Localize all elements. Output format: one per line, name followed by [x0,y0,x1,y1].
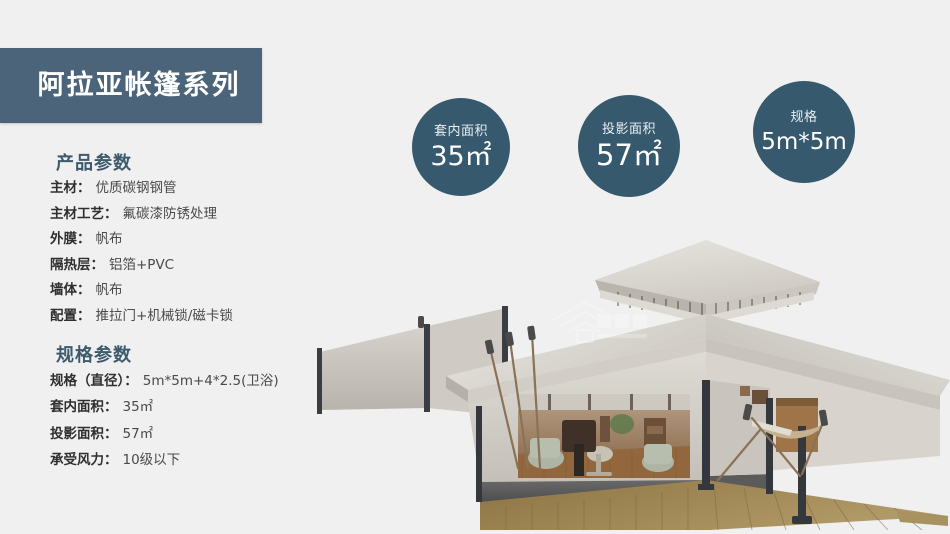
param-value: 氟碳漆防锈处理 [123,208,218,222]
param-label: 墙体： [50,284,91,298]
param-value: 57㎡ [123,428,154,442]
param-label: 规格（直径）： [50,375,138,389]
stat-label: 规格 [790,111,817,124]
stat-circle-indoor-area: 套内面积 35㎡ [412,98,510,196]
param-value: 优质碳钢钢管 [96,182,177,196]
stat-label: 套内面积 [434,125,488,138]
tent-svg [300,230,950,530]
param-value: 5m*5m+4*2.5(卫浴) [143,375,279,389]
stat-value: 57㎡ [596,141,662,170]
anchor-detail [418,316,424,328]
stat-label: 投影面积 [602,123,656,136]
page-title: 阿拉亚帐篷系列 [38,72,241,99]
param-label: 外膜： [50,233,91,247]
param-value: 帆布 [96,284,123,298]
param-row-main-material: 主材： 优质碳钢钢管 [50,182,350,196]
param-label: 主材工艺： [50,208,118,222]
stat-value: 5m*5m [761,131,847,154]
stat-circle-projected-area: 投影面积 57㎡ [578,95,680,197]
param-label: 主材： [50,182,91,196]
upper-roof [595,240,820,324]
param-label: 配置： [50,310,91,324]
stat-value: 35㎡ [430,143,491,170]
param-value: 10级以下 [123,454,181,468]
param-row-material-process: 主材工艺： 氟碳漆防锈处理 [50,208,350,222]
param-label: 套内面积： [50,401,118,415]
param-value: 推拉门+机械锁/磁卡锁 [96,310,233,324]
title-banner: 阿拉亚帐篷系列 [0,48,262,123]
param-label: 承受风力： [50,454,118,468]
param-label: 投影面积： [50,428,118,442]
tent-render-image [300,230,950,530]
product-parameters-heading: 产品参数 [56,152,350,175]
param-value: 35㎡ [123,401,154,415]
param-label: 隔热层： [50,259,104,273]
page-root: 阿拉亚帐篷系列 产品参数 主材： 优质碳钢钢管 主材工艺： 氟碳漆防锈处理 外膜… [0,0,950,534]
param-value: 铝箔+PVC [109,259,174,273]
param-value: 帆布 [96,233,123,247]
stat-circle-dimensions: 规格 5m*5m [753,81,855,183]
